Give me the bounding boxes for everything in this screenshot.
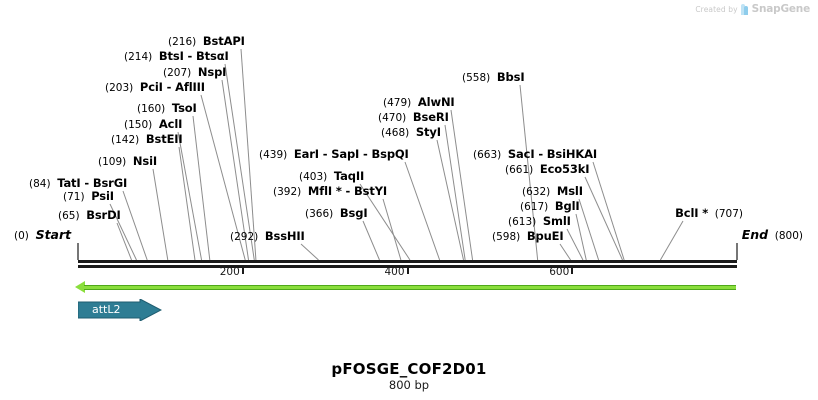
enzyme-position: (203)	[105, 82, 140, 94]
enzyme-position: (439)	[259, 149, 294, 161]
ruler-label-200: 200	[220, 266, 241, 278]
feature-attL2[interactable]: attL2	[78, 299, 162, 321]
enzyme-name: NsiI	[133, 154, 157, 168]
enzyme-name: BseRI	[413, 110, 449, 124]
enzyme-position: (0)	[14, 230, 36, 242]
enzyme-name: BpuEI	[527, 229, 564, 243]
enzyme-position: (707)	[708, 208, 743, 220]
enzyme-name: TaqII	[334, 169, 364, 183]
enzyme-position: (214)	[124, 51, 159, 63]
leader-line	[567, 229, 583, 260]
enzyme-site-label[interactable]: (109) NsiI	[98, 155, 157, 168]
plasmid-title: pFOSGE_COF2D01	[0, 360, 818, 378]
enzyme-site-label[interactable]: (214) BtsI - BtsαI	[124, 50, 229, 63]
enzyme-name: BstEII	[146, 132, 183, 146]
enzyme-name: SacI - BsiHKAI	[508, 147, 597, 161]
enzyme-position: (65)	[58, 210, 86, 222]
enzyme-name: TatI - BsrGI	[57, 176, 127, 190]
enzyme-site-label[interactable]: (663) SacI - BsiHKAI	[473, 148, 597, 161]
enzyme-name: PciI - AflIII	[140, 80, 205, 94]
enzyme-position: (366)	[305, 208, 340, 220]
leader-line	[301, 244, 319, 260]
ruler-tick-400	[407, 268, 409, 274]
sequence-backbone-top	[78, 260, 737, 263]
enzyme-site-label[interactable]: (366) BsgI	[305, 207, 367, 220]
leader-line	[576, 214, 586, 260]
enzyme-name: MslI	[557, 184, 583, 198]
leader-line	[117, 223, 132, 260]
ruler-tick-200	[242, 268, 244, 274]
enzyme-name: SmlI	[543, 214, 571, 228]
enzyme-name: EarI - SapI - BspQI	[294, 147, 409, 161]
snapgene-watermark: Created by SnapGene	[695, 3, 810, 15]
enzyme-position: (292)	[230, 231, 265, 243]
enzyme-name: NspI	[198, 65, 226, 79]
enzyme-position: (661)	[505, 164, 540, 176]
enzyme-name: AlwNI	[418, 95, 455, 109]
enzyme-site-label[interactable]: (292) BssHII	[230, 230, 305, 243]
enzyme-name: BstAPI	[203, 34, 245, 48]
leader-line	[405, 162, 440, 260]
leader-line	[153, 169, 168, 260]
enzyme-site-label[interactable]: (203) PciI - AflIII	[105, 81, 205, 94]
enzyme-name: BssHII	[265, 229, 305, 243]
leader-line	[178, 132, 202, 260]
enzyme-name: BclI *	[675, 206, 708, 220]
enzyme-site-label[interactable]: (403) TaqII	[299, 170, 364, 183]
enzyme-site-label[interactable]: (392) MflI * - BstYI	[273, 185, 387, 198]
enzyme-site-label[interactable]: (632) MslI	[522, 185, 583, 198]
watermark-prefix: Created by	[695, 5, 737, 14]
enzyme-name: PsiI	[91, 189, 114, 203]
ruler-label-400: 400	[384, 266, 405, 278]
enzyme-position: (470)	[378, 112, 413, 124]
leader-line	[193, 116, 210, 260]
enzyme-position: (598)	[492, 231, 527, 243]
leader-line	[560, 244, 571, 260]
enzyme-name: BglI	[555, 199, 580, 213]
ruler-tick-600	[571, 268, 573, 274]
enzyme-position: (617)	[520, 201, 555, 213]
enzyme-site-label[interactable]: (160) TsoI	[137, 102, 197, 115]
enzyme-site-label[interactable]: (617) BglI	[520, 200, 580, 213]
enzyme-position: (403)	[299, 171, 334, 183]
feature-attL2-label: attL2	[92, 303, 121, 316]
leader-line	[123, 191, 147, 260]
enzyme-site-label[interactable]: (207) NspI	[163, 66, 226, 79]
leader-line	[445, 125, 465, 260]
ruler-label-600: 600	[549, 266, 570, 278]
enzyme-position: (109)	[98, 156, 133, 168]
enzyme-name: AclI	[159, 117, 182, 131]
enzyme-position: (84)	[29, 178, 57, 190]
leader-line	[585, 177, 622, 260]
leader-line	[579, 199, 599, 260]
enzyme-site-label[interactable]: (84) TatI - BsrGI	[29, 177, 127, 190]
snapgene-linear-map: Created by SnapGene (0) Start(65) BsrDI(…	[0, 0, 818, 400]
enzyme-site-label[interactable]: BclI * (707)	[675, 207, 743, 220]
enzyme-name: BtsI - BtsαI	[159, 49, 229, 63]
enzyme-name: BbsI	[497, 70, 525, 84]
enzyme-position: (216)	[168, 36, 203, 48]
enzyme-site-label[interactable]: (598) BpuEI	[492, 230, 564, 243]
enzyme-position: (632)	[522, 186, 557, 198]
enzyme-site-label[interactable]: (65) BsrDI	[58, 209, 121, 222]
enzyme-leader-lines	[0, 0, 818, 400]
leader-line	[241, 49, 256, 260]
enzyme-site-label[interactable]: (142) BstEII	[111, 133, 183, 146]
enzyme-position: (800)	[768, 230, 803, 242]
sequence-terminus-label[interactable]: End (800)	[742, 229, 803, 242]
enzyme-site-label[interactable]: (150) AclI	[124, 118, 182, 131]
leader-line	[451, 110, 473, 260]
enzyme-position: (207)	[163, 67, 198, 79]
sequence-terminus-label[interactable]: (0) Start	[14, 229, 71, 242]
enzyme-name: StyI	[416, 125, 441, 139]
snapgene-logo-icon	[741, 4, 749, 15]
terminus-name: Start	[36, 227, 72, 242]
enzyme-site-label[interactable]: (439) EarI - SapI - BspQI	[259, 148, 409, 161]
sequence-span-line	[84, 285, 736, 290]
enzyme-position: (468)	[381, 127, 416, 139]
enzyme-position: (150)	[124, 119, 159, 131]
plasmid-length: 800 bp	[0, 378, 818, 392]
leader-line	[179, 147, 195, 260]
enzyme-name: TsoI	[172, 101, 197, 115]
leader-line	[437, 140, 464, 260]
enzyme-position: (479)	[383, 97, 418, 109]
watermark-brand: SnapGene	[752, 3, 810, 15]
enzyme-position: (160)	[137, 103, 172, 115]
enzyme-site-label[interactable]: (468) StyI	[381, 126, 441, 139]
enzyme-position: (613)	[508, 216, 543, 228]
leader-line	[593, 162, 624, 260]
enzyme-site-label[interactable]: (613) SmlI	[508, 215, 571, 228]
enzyme-position: (71)	[63, 191, 91, 203]
enzyme-position: (663)	[473, 149, 508, 161]
enzyme-site-label[interactable]: (216) BstAPI	[168, 35, 245, 48]
leader-line	[383, 199, 401, 260]
enzyme-name: Eco53kI	[540, 162, 589, 176]
enzyme-name: BsgI	[340, 206, 368, 220]
leader-line	[660, 221, 683, 260]
enzyme-position: (142)	[111, 134, 146, 146]
enzyme-site-label[interactable]: (661) Eco53kI	[505, 163, 589, 176]
terminus-name: End	[742, 227, 768, 242]
enzyme-site-label[interactable]: (71) PsiI	[63, 190, 114, 203]
enzyme-site-label[interactable]: (470) BseRI	[378, 111, 449, 124]
enzyme-position: (392)	[273, 186, 308, 198]
leader-line	[363, 221, 379, 260]
enzyme-name: MflI * - BstYI	[308, 184, 387, 198]
enzyme-site-label[interactable]: (558) BbsI	[462, 71, 524, 84]
enzyme-site-label[interactable]: (479) AlwNI	[383, 96, 455, 109]
enzyme-position: (558)	[462, 72, 497, 84]
enzyme-name: BsrDI	[86, 208, 120, 222]
